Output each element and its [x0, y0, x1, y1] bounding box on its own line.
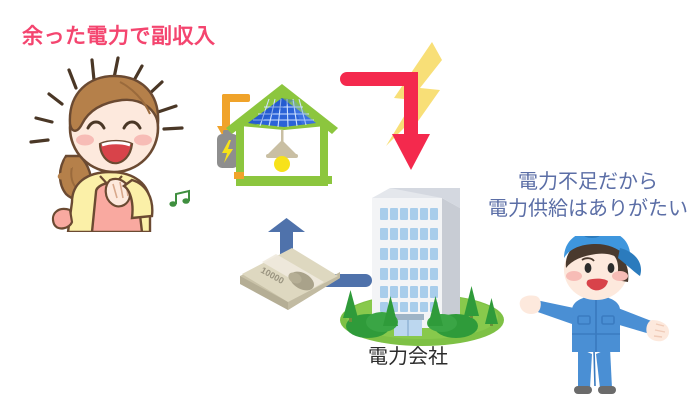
shoe-left	[574, 386, 592, 394]
grid-supply-arrows	[336, 38, 466, 180]
utility-caption-line-1: 電力不足だから	[488, 168, 688, 195]
worker-blush-right	[612, 271, 628, 281]
music-note-right	[169, 191, 189, 207]
utility-caption-line-2: 電力供給はありがたい	[488, 195, 688, 222]
happy-woman	[14, 52, 214, 232]
red-supply-arrow	[340, 72, 430, 170]
house-floor	[236, 176, 332, 184]
page-title: 余った電力で副収入	[22, 20, 216, 50]
worker-eye-left	[585, 263, 592, 273]
power-company-building	[330, 168, 510, 348]
battery	[217, 130, 238, 168]
banknote-bundle: 10000	[236, 248, 344, 314]
worker-eye-right	[608, 263, 615, 273]
illustration-canvas: 余った電力で副収入	[0, 0, 700, 400]
worker-legs	[574, 348, 616, 394]
worker-blush-left	[566, 271, 582, 281]
ceiling-lamp	[266, 130, 298, 172]
utility-caption: 電力不足だから 電力供給はありがたい	[488, 168, 688, 222]
solar-house	[196, 72, 348, 196]
light-bulb	[274, 156, 290, 172]
utility-worker	[516, 236, 686, 400]
blush-left	[76, 135, 94, 146]
battery-wire	[234, 172, 244, 179]
shoe-right	[598, 386, 616, 394]
apron-bow	[53, 209, 72, 229]
power-company-label: 電力会社	[368, 340, 448, 369]
worker-hand-left	[520, 295, 541, 314]
blush-right	[134, 135, 152, 146]
